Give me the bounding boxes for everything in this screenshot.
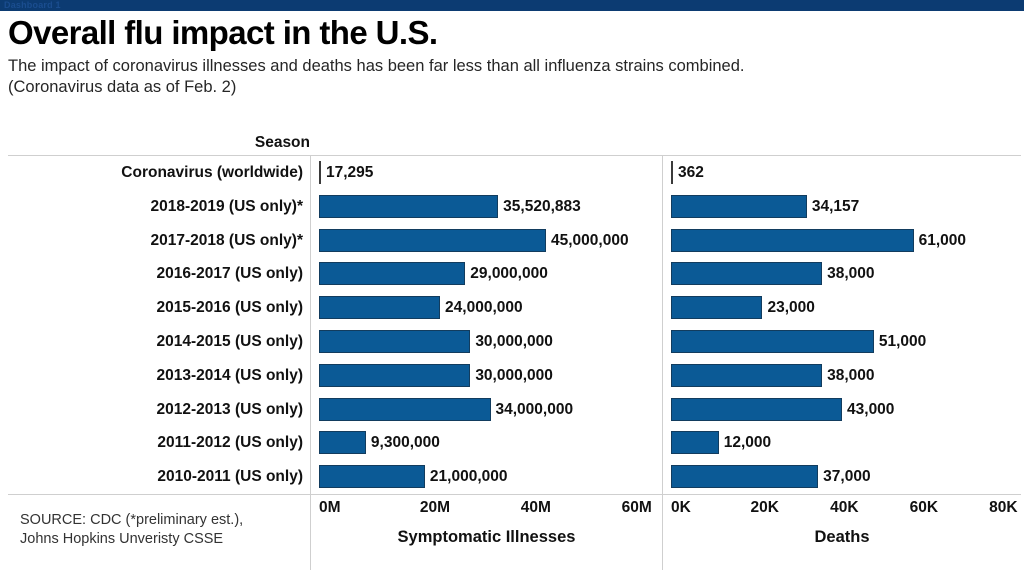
bar-deaths[interactable] xyxy=(671,229,914,252)
table-row: 2016-2017 (US only)29,000,00038,000 xyxy=(8,257,1021,291)
plot-deaths: 37,000 xyxy=(663,460,1021,494)
row-label: 2012-2013 (US only) xyxy=(8,393,303,427)
table-row: 2010-2011 (US only)21,000,00037,000 xyxy=(8,460,1021,494)
source-note-line-2: Johns Hopkins Unveristy CSSE xyxy=(20,531,223,547)
bar-wrap: 23,000 xyxy=(671,296,1021,319)
bar-wrap: 30,000,000 xyxy=(319,330,662,353)
plot-deaths: 12,000 xyxy=(663,426,1021,460)
table-row: 2017-2018 (US only)*45,000,00061,000 xyxy=(8,224,1021,258)
plot-illnesses: 29,000,000 xyxy=(311,257,662,291)
axis-tick: 40K xyxy=(830,499,858,517)
bar-wrap: 34,000,000 xyxy=(319,398,662,421)
bar-illnesses[interactable] xyxy=(319,229,546,252)
bar-deaths[interactable] xyxy=(671,262,822,285)
plot-illnesses: 45,000,000 xyxy=(311,224,662,258)
bar-wrap: 38,000 xyxy=(671,364,1021,387)
axis-tick: 0K xyxy=(671,499,691,517)
plot-illnesses: 24,000,000 xyxy=(311,291,662,325)
bar-wrap: 9,300,000 xyxy=(319,431,662,454)
plot-illnesses: 30,000,000 xyxy=(311,325,662,359)
bar-value-label: 43,000 xyxy=(842,398,894,421)
plot-deaths: 38,000 xyxy=(663,257,1021,291)
bar-value-label: 362 xyxy=(673,161,704,184)
bar-value-label: 21,000,000 xyxy=(425,465,508,488)
source-note: SOURCE: CDC (*preliminary est.), Johns H… xyxy=(20,511,305,549)
page-title: Overall flu impact in the U.S. xyxy=(8,13,1016,53)
page-subtitle-line-1: The impact of coronavirus illnesses and … xyxy=(8,57,745,75)
plot-illnesses: 17,295 xyxy=(311,156,662,190)
bar-value-label: 24,000,000 xyxy=(440,296,523,319)
bar-value-label: 23,000 xyxy=(762,296,814,319)
table-row: 2018-2019 (US only)*35,520,88334,157 xyxy=(8,190,1021,224)
bar-wrap: 17,295 xyxy=(319,161,662,184)
bar-wrap: 12,000 xyxy=(671,431,1021,454)
plot-illnesses: 35,520,883 xyxy=(311,190,662,224)
bar-deaths[interactable] xyxy=(671,465,818,488)
table-row: 2013-2014 (US only)30,000,00038,000 xyxy=(8,359,1021,393)
plot-deaths: 38,000 xyxy=(663,359,1021,393)
bar-value-label: 61,000 xyxy=(914,229,966,252)
bar-illnesses[interactable] xyxy=(319,296,440,319)
row-label: 2018-2019 (US only)* xyxy=(8,190,303,224)
bar-deaths[interactable] xyxy=(671,296,762,319)
header-block: Overall flu impact in the U.S. The impac… xyxy=(8,13,1016,98)
table-row: 2014-2015 (US only)30,000,00051,000 xyxy=(8,325,1021,359)
row-label: 2016-2017 (US only) xyxy=(8,257,303,291)
table-row: Coronavirus (worldwide)17,295362 xyxy=(8,156,1021,190)
bar-wrap: 35,520,883 xyxy=(319,195,662,218)
bar-value-label: 12,000 xyxy=(719,431,771,454)
plot-deaths: 23,000 xyxy=(663,291,1021,325)
bar-deaths[interactable] xyxy=(671,364,822,387)
row-label: 2011-2012 (US only) xyxy=(8,426,303,460)
row-label: 2014-2015 (US only) xyxy=(8,325,303,359)
bar-wrap: 51,000 xyxy=(671,330,1021,353)
bar-value-label: 34,000,000 xyxy=(491,398,574,421)
bar-wrap: 43,000 xyxy=(671,398,1021,421)
bar-value-label: 17,295 xyxy=(321,161,373,184)
bar-illnesses[interactable] xyxy=(319,364,470,387)
page-subtitle: The impact of coronavirus illnesses and … xyxy=(8,56,1016,98)
source-note-line-1: SOURCE: CDC (*preliminary est.), xyxy=(20,512,243,528)
axis-tick: 60K xyxy=(910,499,938,517)
window-titlebar: Dashboard 1 xyxy=(0,0,1024,11)
chart-footer: SOURCE: CDC (*preliminary est.), Johns H… xyxy=(8,495,1021,570)
axis-title-deaths: Deaths xyxy=(663,528,1021,547)
bar-deaths[interactable] xyxy=(671,398,842,421)
axis-tick: 0M xyxy=(319,499,341,517)
axis-tick: 80K xyxy=(989,499,1017,517)
bar-illnesses[interactable] xyxy=(319,330,470,353)
bar-value-label: 30,000,000 xyxy=(470,364,553,387)
plot-illnesses: 34,000,000 xyxy=(311,393,662,427)
plot-deaths: 34,157 xyxy=(663,190,1021,224)
table-row: 2015-2016 (US only)24,000,00023,000 xyxy=(8,291,1021,325)
axis-tick: 60M xyxy=(622,499,652,517)
bar-value-label: 35,520,883 xyxy=(498,195,581,218)
table-row: 2011-2012 (US only)9,300,00012,000 xyxy=(8,426,1021,460)
bar-value-label: 30,000,000 xyxy=(470,330,553,353)
bar-illnesses[interactable] xyxy=(319,398,491,421)
bar-value-label: 29,000,000 xyxy=(465,262,548,285)
bar-value-label: 45,000,000 xyxy=(546,229,629,252)
axis-tick: 20M xyxy=(420,499,450,517)
row-label: 2015-2016 (US only) xyxy=(8,291,303,325)
row-label: Coronavirus (worldwide) xyxy=(8,156,303,190)
plot-deaths: 51,000 xyxy=(663,325,1021,359)
bar-illnesses[interactable] xyxy=(319,465,425,488)
bar-wrap: 34,157 xyxy=(671,195,1021,218)
bar-value-label: 37,000 xyxy=(818,465,870,488)
bar-illnesses[interactable] xyxy=(319,195,498,218)
bar-wrap: 38,000 xyxy=(671,262,1021,285)
row-label: 2010-2011 (US only) xyxy=(8,460,303,494)
row-header-label: Season xyxy=(8,134,310,152)
bar-deaths[interactable] xyxy=(671,431,719,454)
table-row: 2012-2013 (US only)34,000,00043,000 xyxy=(8,393,1021,427)
axis-tick: 20K xyxy=(751,499,779,517)
bar-wrap: 21,000,000 xyxy=(319,465,662,488)
bar-deaths[interactable] xyxy=(671,330,874,353)
chart-frame: Season Coronavirus (worldwide)17,2953622… xyxy=(8,155,1021,570)
bar-wrap: 37,000 xyxy=(671,465,1021,488)
bar-deaths[interactable] xyxy=(671,195,807,218)
bar-wrap: 30,000,000 xyxy=(319,364,662,387)
axis-title-illnesses: Symptomatic Illnesses xyxy=(311,528,662,547)
bar-illnesses[interactable] xyxy=(319,262,465,285)
bar-wrap: 362 xyxy=(671,161,1021,184)
bar-value-label: 51,000 xyxy=(874,330,926,353)
x-axis-illnesses: 0M20M40M60MSymptomatic Illnesses xyxy=(311,495,662,570)
window-title-label: Dashboard 1 xyxy=(4,0,61,11)
plot-illnesses: 21,000,000 xyxy=(311,460,662,494)
plot-deaths: 43,000 xyxy=(663,393,1021,427)
plot-deaths: 61,000 xyxy=(663,224,1021,258)
row-label: 2013-2014 (US only) xyxy=(8,359,303,393)
plot-illnesses: 30,000,000 xyxy=(311,359,662,393)
bar-wrap: 61,000 xyxy=(671,229,1021,252)
dashboard-viz: Dashboard 1 Overall flu impact in the U.… xyxy=(0,0,1024,575)
bar-value-label: 38,000 xyxy=(822,364,874,387)
chart-rows: Coronavirus (worldwide)17,2953622018-201… xyxy=(8,156,1021,494)
bar-illnesses[interactable] xyxy=(319,431,366,454)
bar-value-label: 9,300,000 xyxy=(366,431,440,454)
page-subtitle-line-2: (Coronavirus data as of Feb. 2) xyxy=(8,78,236,96)
bar-value-label: 34,157 xyxy=(807,195,859,218)
bar-wrap: 24,000,000 xyxy=(319,296,662,319)
plot-deaths: 362 xyxy=(663,156,1021,190)
row-label: 2017-2018 (US only)* xyxy=(8,224,303,258)
bar-value-label: 38,000 xyxy=(822,262,874,285)
plot-illnesses: 9,300,000 xyxy=(311,426,662,460)
axis-tick: 40M xyxy=(521,499,551,517)
bar-wrap: 45,000,000 xyxy=(319,229,662,252)
x-axis-deaths: 0K20K40K60K80KDeaths xyxy=(663,495,1021,570)
bar-wrap: 29,000,000 xyxy=(319,262,662,285)
